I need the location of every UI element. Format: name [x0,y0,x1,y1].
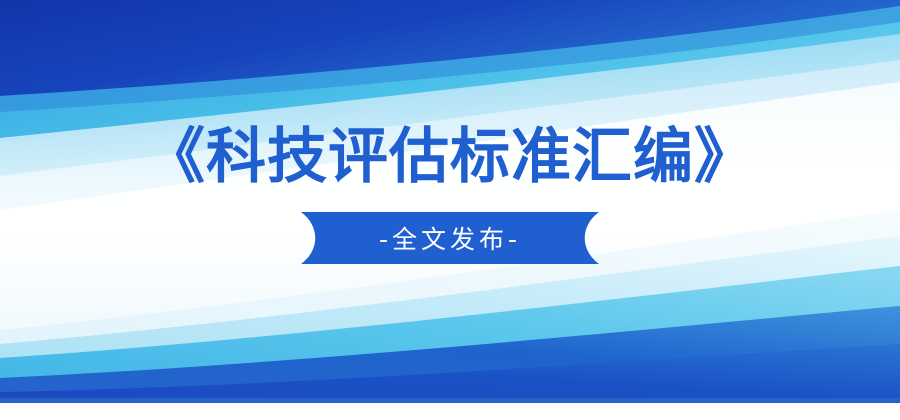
bottom-white-strip [0,403,900,420]
banner-artwork [0,0,900,403]
ribbon-label: -全文发布- [301,212,599,264]
promo-banner: 《科技评估标准汇编》 -全文发布- [0,0,900,420]
page-title: 《科技评估标准汇编》 [145,127,755,187]
decorative-wave-graphic [0,0,900,403]
status-badge[interactable]: -全文发布- [301,212,599,264]
